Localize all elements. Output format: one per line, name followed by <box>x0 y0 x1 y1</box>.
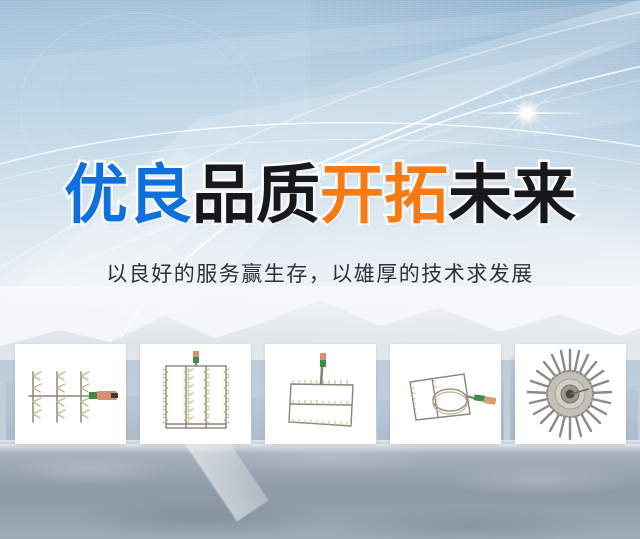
multi-arm-plating-rack-icon <box>15 344 126 444</box>
page-title: 优良品质开拓未来 <box>0 163 640 231</box>
product-card-row <box>15 344 627 444</box>
product-card[interactable] <box>140 344 251 444</box>
product-card[interactable] <box>15 344 126 444</box>
product-card[interactable] <box>265 344 376 444</box>
page-subtitle: 以良好的服务赢生存，以雄厚的技术求发展 <box>0 258 640 288</box>
skyline-haze <box>0 286 640 346</box>
radial-star-plating-rack-icon <box>515 344 626 444</box>
dense-tooth-plating-rack-icon <box>140 344 251 444</box>
product-card[interactable] <box>515 344 626 444</box>
product-card[interactable] <box>390 344 501 444</box>
concrete-ground <box>0 440 640 539</box>
ring-frame-plating-rack-icon <box>390 344 501 444</box>
flat-frame-plating-rack-icon <box>265 344 376 444</box>
headline-segment-2: 品质 <box>192 159 320 233</box>
headline-segment-4: 未来 <box>448 159 576 233</box>
banner-stage: 优良品质开拓未来 以良好的服务赢生存，以雄厚的技术求发展 <box>0 0 640 539</box>
card-row-reflection <box>0 444 640 454</box>
headline-segment-1: 优良 <box>64 159 192 233</box>
headline-segment-3: 开拓 <box>320 159 448 233</box>
